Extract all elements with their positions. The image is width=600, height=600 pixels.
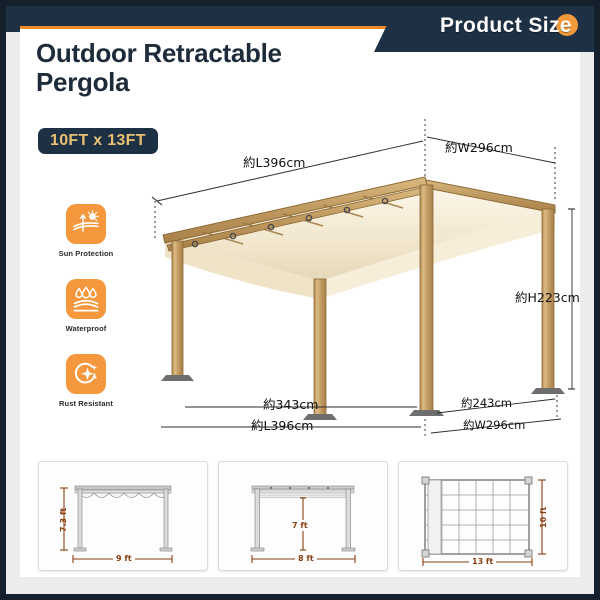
dim-base-width: 約W296cm (463, 417, 525, 433)
dim-top-length: 約L396cm (243, 152, 305, 171)
thumbnail-row: 7.3 ft 9 ft (38, 461, 566, 569)
dim-base-inner: 約343cm (263, 394, 318, 413)
thumb-width-label: 8 ft (295, 554, 317, 563)
feature-label: Rust Resistant (38, 399, 134, 408)
thumb-width-label: 9 ft (113, 554, 135, 563)
infographic-frame: Product Size Outdoor Retractable Pergola… (0, 0, 600, 600)
rust-resistant-icon (66, 354, 106, 394)
dim-base-length: 約L396cm (251, 415, 313, 434)
dim-base-side: 約243cm (461, 395, 512, 411)
product-size-label: Product Size (440, 14, 572, 38)
waterproof-icon (66, 279, 106, 319)
dim-top-width: 約W296cm (445, 137, 513, 156)
feature-sun-protection: Sun Protection (38, 204, 134, 258)
thumbnail-front-view[interactable]: 7.3 ft 9 ft (38, 461, 208, 571)
feature-rust-resistant: Rust Resistant (38, 354, 134, 408)
sun-protection-icon (66, 204, 106, 244)
thumb-height-label: 10 ft (539, 507, 548, 528)
pergola-diagram: 約L396cm 約W296cm 約H223cm 約343cm 約L396cm 約… (125, 89, 575, 449)
thumbnail-top-view[interactable]: 10 ft 13 ft (398, 461, 568, 571)
thumb-height-label: 7.3 ft (59, 508, 68, 532)
thumb-height-label: 7 ft (289, 520, 311, 531)
thumb-width-label: 13 ft (469, 557, 496, 566)
dim-height: 約H223cm (515, 287, 580, 306)
feature-label: Sun Protection (38, 249, 134, 258)
feature-list: Sun Protection Waterproof (38, 204, 134, 429)
thumbnail-side-view[interactable]: 7 ft 8 ft (218, 461, 388, 571)
content-card: Outdoor Retractable Pergola 10FT x 13FT (20, 29, 580, 577)
feature-label: Waterproof (38, 324, 134, 333)
feature-waterproof: Waterproof (38, 279, 134, 333)
